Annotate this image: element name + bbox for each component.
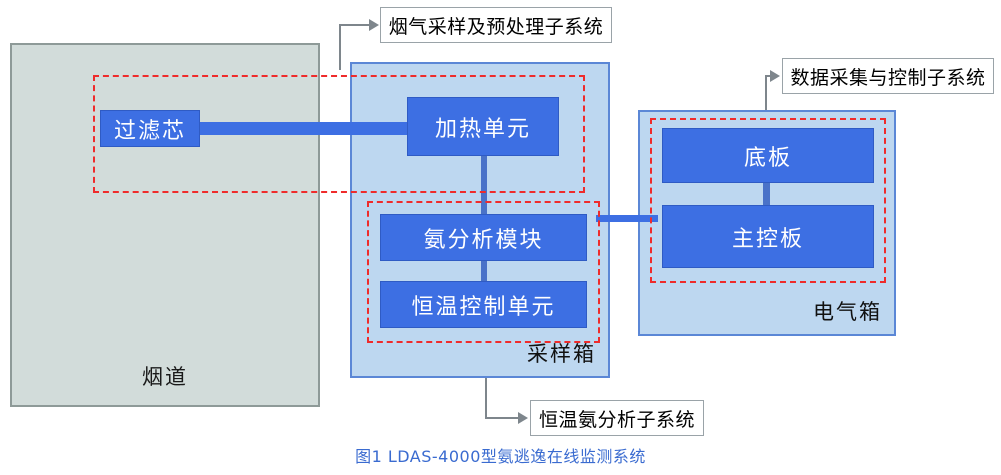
node-label: 主控板 <box>732 221 804 253</box>
diagram-canvas: 烟气采样及预处理子系统 数据采集与控制子系统 恒温氨分析子系统 烟道 采样箱 电… <box>0 0 1001 475</box>
node-label: 恒温控制单元 <box>411 289 555 321</box>
node-label: 底板 <box>744 140 792 172</box>
leader-arrow-ammonia <box>518 412 528 424</box>
node-constant-temp-control[interactable]: 恒温控制单元 <box>380 281 587 328</box>
callout-constant-temp-ammonia: 恒温氨分析子系统 <box>530 400 704 436</box>
container-electrical-box-label: 电气箱 <box>813 296 882 326</box>
leader-line-ammonia-horizontal <box>485 417 521 419</box>
connector-sampling-to-electrical <box>596 215 658 222</box>
leader-line-gas-sampling-vertical <box>339 25 341 70</box>
node-ammonia-analysis[interactable]: 氨分析模块 <box>380 214 587 261</box>
leader-line-gas-sampling-horizontal <box>339 24 370 26</box>
container-flue-label: 烟道 <box>12 361 318 391</box>
leader-arrow-gas-sampling <box>369 19 379 31</box>
callout-gas-sampling-pretreatment: 烟气采样及预处理子系统 <box>380 7 612 43</box>
callout-label: 烟气采样及预处理子系统 <box>389 12 604 39</box>
callout-data-acquisition-control: 数据采集与控制子系统 <box>782 58 994 94</box>
node-base-board[interactable]: 底板 <box>662 128 874 183</box>
node-main-control-board[interactable]: 主控板 <box>662 205 874 268</box>
node-filter-element[interactable]: 过滤芯 <box>100 110 200 147</box>
node-label: 加热单元 <box>435 111 531 143</box>
node-heating-unit[interactable]: 加热单元 <box>407 97 559 156</box>
node-label: 过滤芯 <box>114 113 186 145</box>
figure-caption: 图1 LDAS-4000型氨逃逸在线监测系统 <box>0 443 1001 467</box>
node-label: 氨分析模块 <box>423 222 543 254</box>
leader-arrow-data-acq <box>770 70 780 82</box>
callout-label: 数据采集与控制子系统 <box>790 63 985 90</box>
callout-label: 恒温氨分析子系统 <box>539 405 695 432</box>
